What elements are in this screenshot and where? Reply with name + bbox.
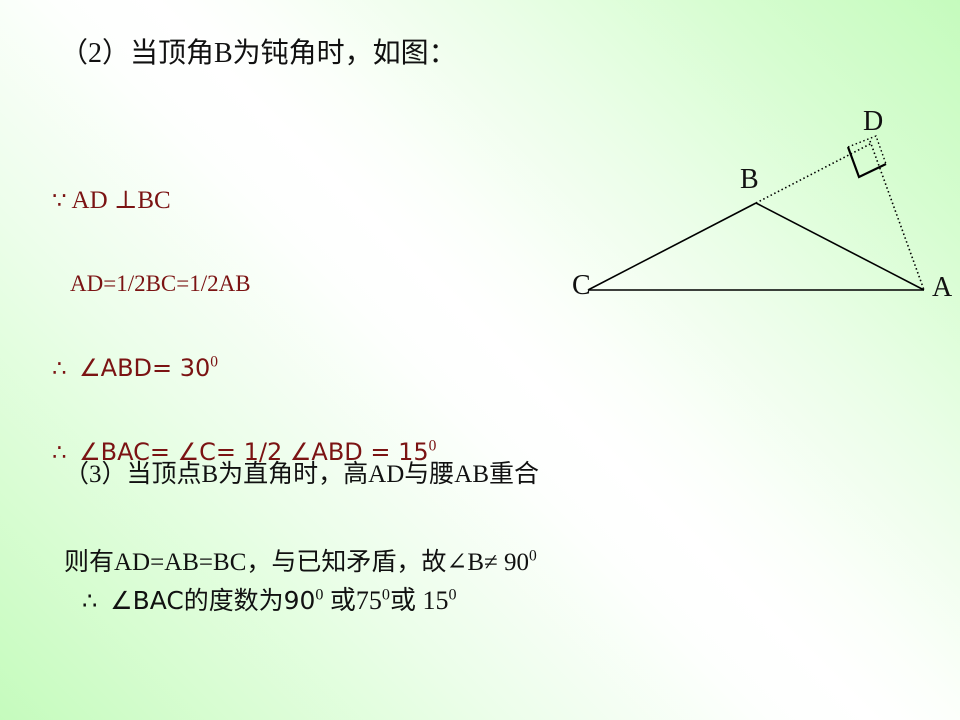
conclusion-text-c: 或 15 <box>390 586 449 615</box>
proof-line-2-text: AD=1/2BC=1/2AB <box>70 271 251 296</box>
edge-d-a-dotted <box>870 141 924 290</box>
edge-b-a <box>756 203 924 290</box>
edge-c-b <box>588 203 756 290</box>
degree-sup-6: 0 <box>448 586 456 603</box>
therefore-symbol-3: ∴ <box>82 587 97 615</box>
because-symbol: ∵ <box>52 188 67 214</box>
proof-line-3: ∴ ∠ABD= 300 <box>52 356 436 390</box>
conclusion-text-b: 或75 <box>323 586 382 615</box>
geometry-figure: D B C A <box>560 100 960 320</box>
conclusion-text-a: ∠BAC的度数为90 <box>110 586 315 615</box>
proof-line-3-text: ∠ABD= 30 <box>79 354 210 382</box>
case-3-line-1: （3）当顶点B为直角时，高AD与腰AB重合 <box>64 462 539 500</box>
therefore-symbol-1: ∴ <box>52 356 67 382</box>
vertex-label-a: A <box>932 274 952 302</box>
case-2-heading: （2）当顶角B为钝角时，如图： <box>60 40 457 68</box>
vertex-label-d: D <box>863 108 883 136</box>
vertex-label-c: C <box>572 272 591 300</box>
conclusion-line: ∴ ∠BAC的度数为900 或750或 150 <box>56 562 457 640</box>
slide-canvas: （2）当顶角B为钝角时，如图： ∵ AD ⊥BC AD=1/2BC=1/2AB … <box>0 0 960 720</box>
degree-sup-5: 0 <box>382 586 390 603</box>
degree-sup-1: 0 <box>210 354 218 371</box>
triangle-diagram-svg <box>560 100 960 320</box>
edge-b-d-dotted <box>756 143 872 203</box>
vertex-label-b: B <box>740 166 759 194</box>
proof-line-2: AD=1/2BC=1/2AB <box>52 272 436 306</box>
right-angle-marker-icon <box>848 147 886 177</box>
proof-line-1: ∵ AD ⊥BC <box>52 188 436 222</box>
proof-line-1-text: AD ⊥BC <box>72 187 171 214</box>
degree-sup-3: 0 <box>529 548 537 565</box>
